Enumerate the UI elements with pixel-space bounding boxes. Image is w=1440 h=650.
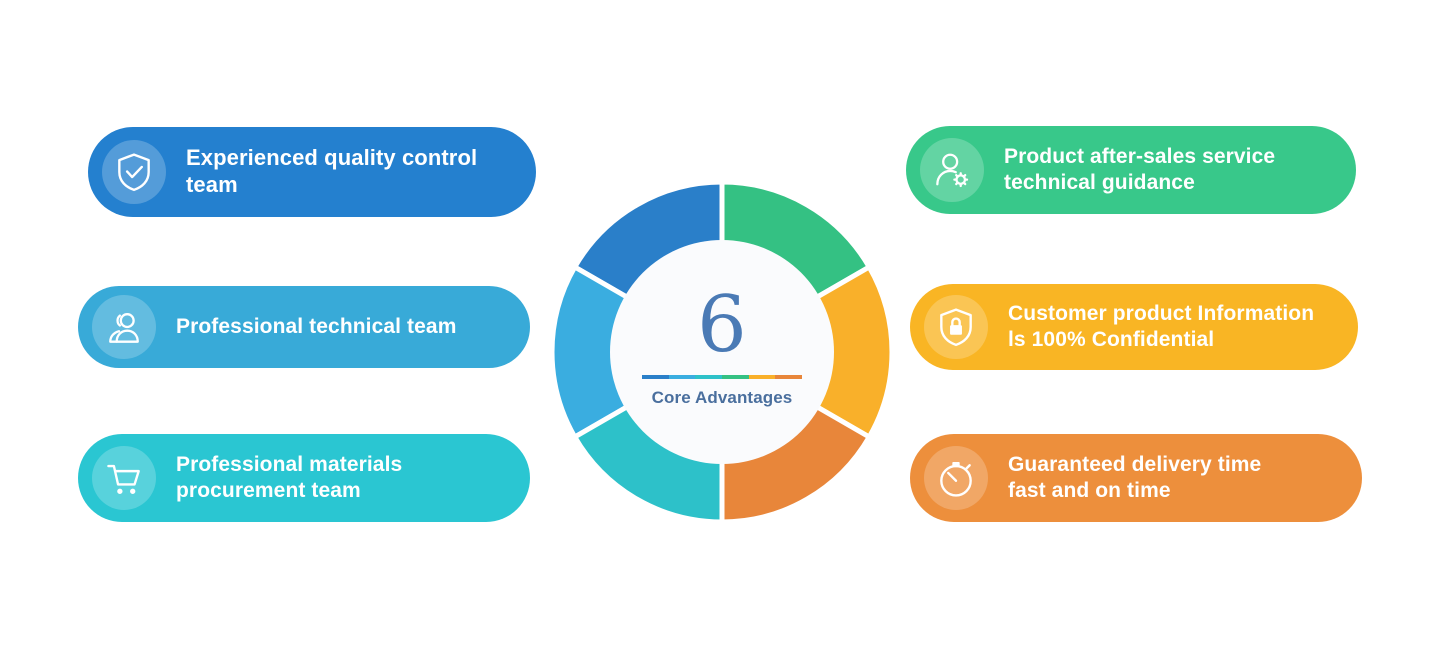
user-gear-icon — [920, 138, 984, 202]
donut-svg — [548, 178, 896, 526]
shield-check-icon — [102, 140, 166, 204]
advantage-label: Product after-sales service technical gu… — [1004, 144, 1275, 195]
shopping-cart-icon — [92, 446, 156, 510]
advantage-card-confidentiality[interactable]: Customer product Information ls 100% Con… — [910, 284, 1358, 370]
shield-lock-icon — [924, 295, 988, 359]
advantage-card-technical-team[interactable]: Professional technical team — [78, 286, 530, 368]
core-advantages-donut-chart — [548, 178, 896, 526]
advantage-card-materials-procurement[interactable]: Professional materials procurement team — [78, 434, 530, 522]
donut-hole — [610, 240, 834, 464]
advantage-label: Experienced quality control team — [186, 145, 518, 199]
infographic-canvas: Experienced quality control team Profess… — [0, 0, 1440, 650]
advantage-card-quality-control[interactable]: Experienced quality control team — [88, 127, 536, 217]
stopwatch-icon — [924, 446, 988, 510]
advantage-label: Guaranteed delivery time fast and on tim… — [1008, 452, 1261, 503]
advantage-label: Professional technical team — [176, 314, 456, 340]
advantage-label: Professional materials procurement team — [176, 452, 402, 503]
advantage-label: Customer product Information ls 100% Con… — [1008, 301, 1314, 352]
people-group-icon — [92, 295, 156, 359]
advantage-card-after-sales-service[interactable]: Product after-sales service technical gu… — [906, 126, 1356, 214]
advantage-card-delivery-time[interactable]: Guaranteed delivery time fast and on tim… — [910, 434, 1362, 522]
